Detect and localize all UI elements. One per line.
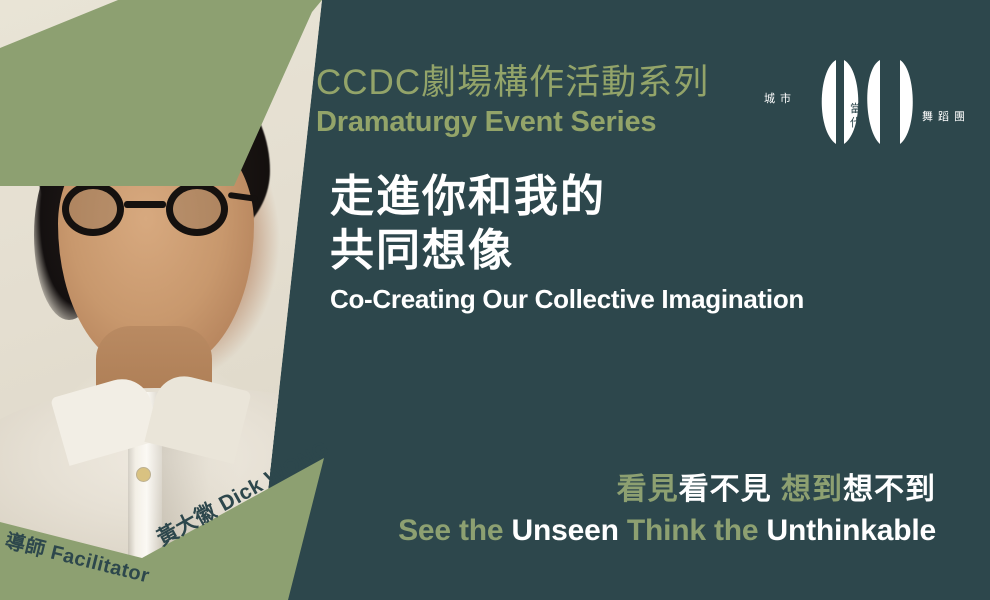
main-title: 走進你和我的 共同想像 Co-Creating Our Collective I… [330,170,804,316]
tagline-run-2: Think the [627,514,767,547]
title-zh-line2: 共同想像 [330,224,804,278]
series-title-en: Dramaturgy Event Series [316,104,709,140]
tagline-run-2 [772,473,781,506]
tagline-run-3: 想到 [781,473,843,506]
logo-text-left: 城市 [764,90,796,106]
glasses-icon [54,182,262,236]
title-en: Co-Creating Our Collective Imagination [330,282,804,316]
title-zh-line1: 走進你和我的 [330,170,804,224]
svg-text:代: 代 [850,116,861,129]
poster-canvas: 導師 Facilitator 黃大徽 Dick WONG CCDC劇場構作活動系… [0,0,990,600]
tagline-run-3: Unthinkable [767,514,936,547]
ccdc-logo: 城市 當 代 舞蹈團 [762,56,978,148]
tagline-run-1: 看不見 [679,473,772,506]
svg-text:當: 當 [850,102,861,115]
tagline-run-0: See the [398,514,511,547]
tagline-run-4: 想不到 [843,473,936,506]
glasses-temple [228,192,259,202]
portrait-shirt-button [137,468,150,481]
glasses-bridge [124,201,166,208]
logo-text-right: 舞蹈團 [922,108,970,124]
tagline-run-0: 看見 [617,473,679,506]
glasses-lens-left [62,182,124,236]
series-title-zh: CCDC劇場構作活動系列 [316,62,709,104]
tagline-en: See the Unseen Think the Unthinkable [398,510,936,552]
tagline-block: 看見看不見 想到想不到 See the Unseen Think the Unt… [398,470,936,552]
tagline-run-1: Unseen [512,514,627,547]
tagline-zh: 看見看不見 想到想不到 [398,470,936,510]
event-series-header: CCDC劇場構作活動系列 Dramaturgy Event Series [316,62,709,140]
glasses-lens-right [166,182,228,236]
ccdc-logo-mark-icon: 當 代 [810,56,926,148]
